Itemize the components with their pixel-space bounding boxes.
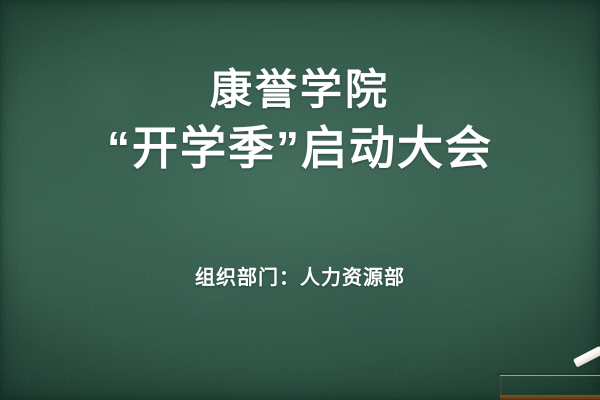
slide-content: 康誉学院 “开学季”启动大会 组织部门：人力资源部 — [0, 0, 600, 400]
chalk-ledge-base — [500, 395, 600, 400]
slide-title-line-2: “开学季”启动大会 — [0, 121, 600, 175]
slide-title-line-1: 康誉学院 — [0, 66, 600, 113]
presentation-slide: 康誉学院 “开学季”启动大会 组织部门：人力资源部 — [0, 0, 600, 400]
chalk-ledge — [500, 375, 600, 400]
chalk-ledge-face — [500, 375, 600, 396]
slide-title-block: 康誉学院 “开学季”启动大会 — [0, 66, 600, 175]
slide-subtitle-organizing-department: 组织部门：人力资源部 — [0, 261, 600, 290]
